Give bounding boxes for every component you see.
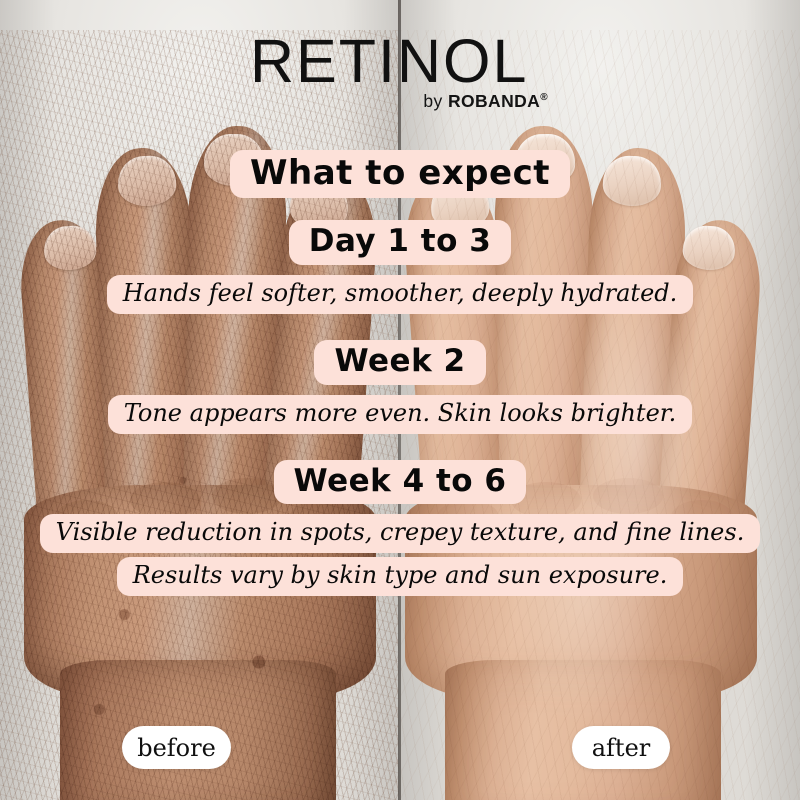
section-heading-week-4-to-6: Week 4 to 6 [274, 460, 527, 505]
section-heading-band: Day 1 to 3 [0, 220, 800, 265]
brand-logo: RETINOL by ROBANDA® [250, 33, 550, 112]
section-body-day-1-to-3-line-1: Hands feel softer, smoother, deeply hydr… [107, 275, 694, 314]
copy-stack: What to expect Day 1 to 3 Hands feel sof… [0, 150, 800, 596]
brand-by-word: by [423, 91, 442, 111]
brand-wordmark: RETINOL [250, 33, 550, 89]
section-body-week-2-line-1: Tone appears more even. Skin looks brigh… [108, 395, 693, 434]
main-heading-band: What to expect [0, 150, 800, 198]
section-body-band: Tone appears more even. Skin looks brigh… [0, 395, 800, 434]
promo-canvas: RETINOL by ROBANDA® What to expect Day 1… [0, 0, 800, 800]
main-heading: What to expect [230, 150, 570, 198]
section-heading-week-2: Week 2 [314, 340, 485, 385]
section-heading-day-1-to-3: Day 1 to 3 [289, 220, 512, 265]
section-body-week-4-to-6-line-1: Visible reduction in spots, crepey textu… [40, 514, 761, 553]
section-heading-band: Week 2 [0, 340, 800, 385]
section-body-band: Results vary by skin type and sun exposu… [0, 557, 800, 596]
brand-maker-name: ROBANDA [448, 91, 540, 111]
section-heading-band: Week 4 to 6 [0, 460, 800, 505]
section-body-week-4-to-6-line-2: Results vary by skin type and sun exposu… [117, 557, 684, 596]
after-label-tag: after [572, 726, 670, 769]
section-body-band: Hands feel softer, smoother, deeply hydr… [0, 275, 800, 314]
registered-mark-icon: ® [540, 92, 548, 103]
section-body-band: Visible reduction in spots, crepey textu… [0, 514, 800, 553]
before-label-tag: before [122, 726, 231, 769]
